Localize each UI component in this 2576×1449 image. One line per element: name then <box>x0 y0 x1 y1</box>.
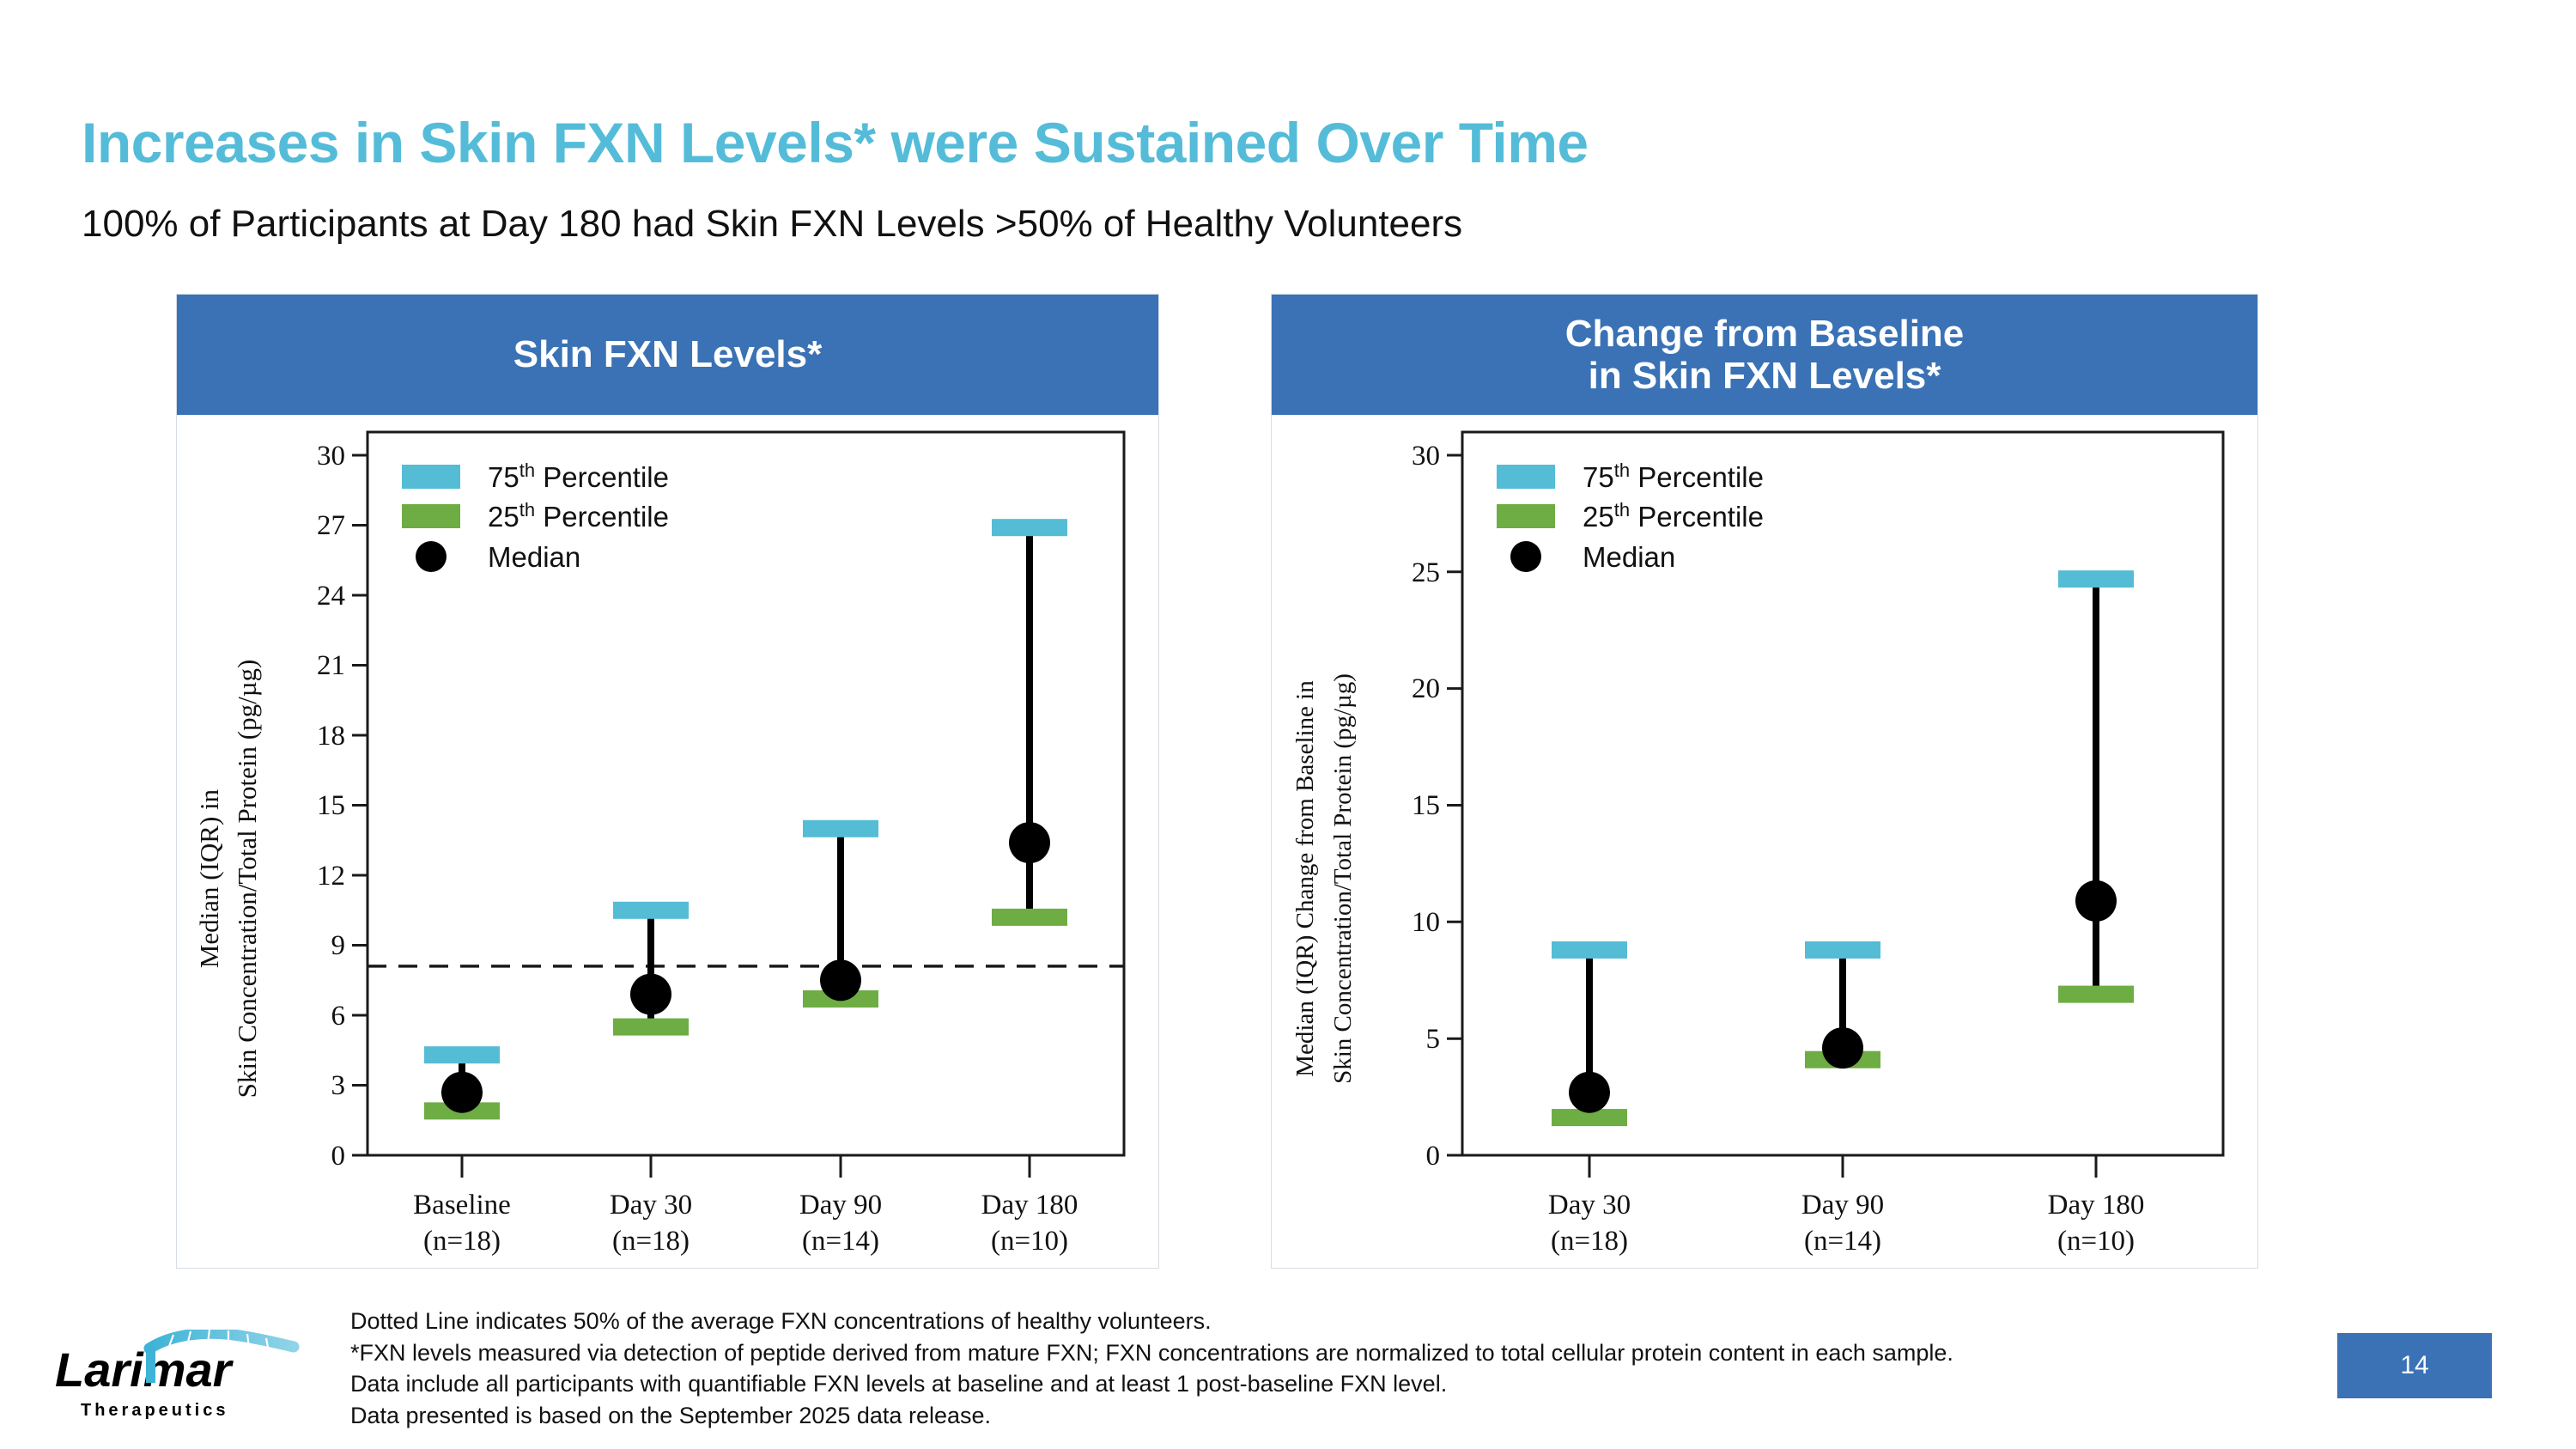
x-count-baseline: (n=18) <box>423 1226 501 1257</box>
svg-text:30: 30 <box>317 441 345 472</box>
chart-svg-skin-fxn-levels: Median (IQR) in Skin Concentration/Total… <box>177 415 1158 1269</box>
x-axis-ticks <box>462 1155 1030 1178</box>
marker-75th-percentile <box>803 820 878 837</box>
marker-75th-percentile <box>992 519 1067 536</box>
x-label-day-90: Day 90 <box>799 1190 882 1221</box>
panel-title-left: Skin FXN Levels* <box>513 333 822 375</box>
data-group-day-180 <box>992 519 1067 926</box>
x-axis-labels: Day 30 (n=18) Day 90 (n=14) Day 180 (n=1… <box>1548 1190 2144 1257</box>
legend-swatch-25th-percentile <box>1497 504 1555 528</box>
legend-swatch-75th-percentile <box>1497 465 1555 489</box>
x-label-day-180: Day 180 <box>2048 1190 2145 1221</box>
panel-header-left: Skin FXN Levels* <box>177 295 1158 415</box>
data-group-day-30 <box>1552 941 1627 1126</box>
y-axis-ticks: 0 5 10 15 20 25 30 <box>1412 441 1462 1172</box>
marker-median <box>1569 1072 1610 1113</box>
chart-area-left: Median (IQR) in Skin Concentration/Total… <box>177 415 1158 1269</box>
chart-panel-skin-fxn-levels: Skin FXN Levels* Median (IQR) in Skin Co… <box>176 294 1159 1269</box>
svg-text:6: 6 <box>331 1001 346 1032</box>
y-axis-label-line1: Median (IQR) Change from Baseline in <box>1291 680 1319 1077</box>
x-label-day-180: Day 180 <box>981 1190 1078 1221</box>
marker-75th-percentile <box>1552 941 1627 959</box>
marker-25th-percentile <box>992 909 1067 926</box>
legend-swatch-75th-percentile <box>402 465 460 489</box>
x-count-day-180: (n=10) <box>2057 1226 2135 1257</box>
svg-text:21: 21 <box>317 650 345 681</box>
y-axis-label-line1: Median (IQR) in <box>194 788 224 968</box>
marker-median <box>2075 880 2117 922</box>
page-title: Increases in Skin FXN Levels* were Susta… <box>82 110 1589 175</box>
chart-area-right: Median (IQR) Change from Baseline in Ski… <box>1272 415 2257 1269</box>
marker-median <box>1822 1027 1863 1068</box>
marker-75th-percentile <box>424 1046 500 1063</box>
legend-label-median: Median <box>1583 541 1675 573</box>
svg-text:15: 15 <box>317 790 345 821</box>
logo-i-stem <box>146 1347 155 1383</box>
x-label-day-90: Day 90 <box>1801 1190 1884 1221</box>
svg-text:27: 27 <box>317 510 345 541</box>
svg-text:30: 30 <box>1412 441 1440 472</box>
svg-text:3: 3 <box>331 1070 346 1101</box>
page-number: 14 <box>2400 1351 2428 1380</box>
marker-75th-percentile <box>2058 570 2134 588</box>
x-count-day-30: (n=18) <box>1551 1226 1628 1257</box>
legend-label-75th-percentile: 75th Percentile <box>488 460 669 494</box>
svg-text:5: 5 <box>1426 1024 1441 1055</box>
x-count-day-90: (n=14) <box>1804 1226 1881 1257</box>
legend-marker-median <box>1510 541 1541 572</box>
x-axis-labels: Baseline (n=18) Day 30 (n=18) Day 90 (n=… <box>413 1190 1078 1257</box>
marker-median <box>441 1072 483 1113</box>
legend-label-25th-percentile: 25th Percentile <box>488 499 669 533</box>
svg-text:24: 24 <box>317 581 345 612</box>
x-axis-ticks <box>1589 1155 2096 1178</box>
page-subtitle: 100% of Participants at Day 180 had Skin… <box>82 203 1462 246</box>
logo-wordmark: Larimar <box>55 1342 234 1397</box>
svg-text:15: 15 <box>1412 790 1440 821</box>
footnote-line-3: Data include all participants with quant… <box>350 1368 1953 1400</box>
legend-marker-median <box>416 541 447 572</box>
svg-text:9: 9 <box>331 930 346 961</box>
footnote-line-1: Dotted Line indicates 50% of the average… <box>350 1306 1953 1337</box>
larimar-logo: Larimar Therapeutics <box>53 1330 311 1424</box>
legend-label-median: Median <box>488 541 580 573</box>
legend-swatch-25th-percentile <box>402 504 460 528</box>
x-count-day-180: (n=10) <box>991 1226 1068 1257</box>
marker-75th-percentile <box>1805 941 1880 959</box>
y-axis-label-line2: Skin Concentration/Total Protein (pg/µg) <box>1329 673 1357 1084</box>
data-group-baseline <box>424 1046 500 1119</box>
legend-label-25th-percentile: 25th Percentile <box>1583 499 1764 533</box>
svg-text:0: 0 <box>1426 1141 1441 1172</box>
svg-text:10: 10 <box>1412 907 1440 938</box>
x-count-day-90: (n=14) <box>802 1226 879 1257</box>
marker-25th-percentile <box>613 1019 689 1036</box>
x-label-baseline: Baseline <box>413 1190 511 1221</box>
svg-text:25: 25 <box>1412 557 1440 588</box>
data-group-day-30 <box>613 902 689 1036</box>
y-axis-label-line2: Skin Concentration/Total Protein (pg/µg) <box>232 660 262 1099</box>
svg-text:18: 18 <box>317 721 345 752</box>
marker-median <box>630 974 671 1015</box>
y-axis-ticks: 0 3 6 9 12 15 18 21 24 27 30 <box>317 441 368 1172</box>
data-group-day-90 <box>803 820 878 1008</box>
data-group-day-180 <box>2058 570 2134 1003</box>
marker-median <box>820 959 861 1001</box>
panel-title-right-line1: Change from Baseline <box>1565 313 1965 355</box>
legend-label-75th-percentile: 75th Percentile <box>1583 460 1764 494</box>
footnotes: Dotted Line indicates 50% of the average… <box>350 1306 1953 1432</box>
svg-text:20: 20 <box>1412 673 1440 704</box>
logo-tagline: Therapeutics <box>81 1401 228 1420</box>
panel-title-right-line2: in Skin FXN Levels* <box>1565 355 1965 397</box>
x-label-day-30: Day 30 <box>1548 1190 1631 1221</box>
panel-header-right: Change from Baseline in Skin FXN Levels* <box>1272 295 2257 415</box>
marker-25th-percentile <box>2058 986 2134 1003</box>
page-number-badge: 14 <box>2337 1333 2492 1398</box>
chart-legend-left: 75th Percentile 25th Percentile Median <box>402 460 669 574</box>
x-count-day-30: (n=18) <box>612 1226 690 1257</box>
svg-text:12: 12 <box>317 861 345 892</box>
chart-panel-change-from-baseline: Change from Baseline in Skin FXN Levels*… <box>1271 294 2258 1269</box>
logo-svg: Larimar Therapeutics <box>53 1330 311 1424</box>
chart-svg-change-from-baseline: Median (IQR) Change from Baseline in Ski… <box>1272 415 2257 1269</box>
footnote-line-2: *FXN levels measured via detection of pe… <box>350 1337 1953 1369</box>
marker-75th-percentile <box>613 902 689 919</box>
marker-median <box>1009 822 1050 863</box>
footnote-line-4: Data presented is based on the September… <box>350 1400 1953 1432</box>
data-group-day-90 <box>1805 941 1880 1068</box>
x-label-day-30: Day 30 <box>610 1190 692 1221</box>
svg-text:0: 0 <box>331 1141 346 1172</box>
chart-legend-right: 75th Percentile 25th Percentile Median <box>1497 460 1764 574</box>
